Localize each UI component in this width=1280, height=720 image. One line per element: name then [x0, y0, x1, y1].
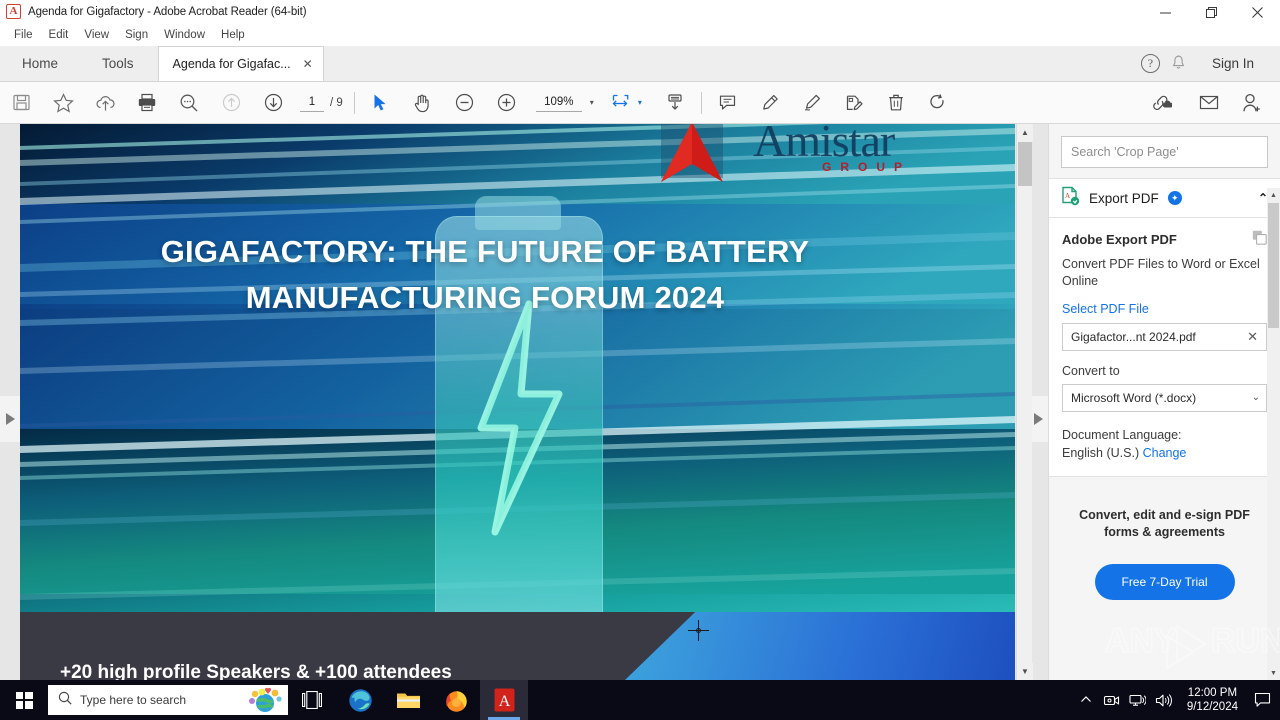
- svg-text:A: A: [498, 693, 510, 710]
- chevron-down-icon[interactable]: ▾: [584, 98, 600, 107]
- export-pdf-icon: A: [1061, 186, 1080, 211]
- sign-in-button[interactable]: Sign In: [1198, 56, 1268, 71]
- close-button[interactable]: [1234, 0, 1280, 24]
- notification-center-icon[interactable]: [1248, 680, 1276, 720]
- chevron-down-icon: ⌄: [1252, 392, 1260, 403]
- export-pdf-label: Export PDF: [1089, 191, 1159, 206]
- share-link-icon[interactable]: [1140, 82, 1182, 124]
- page-subtitle: +20 high profile Speakers & +100 attende…: [60, 662, 452, 680]
- hand-tool-icon[interactable]: [402, 82, 444, 124]
- clear-file-icon[interactable]: ✕: [1245, 329, 1260, 345]
- logo-subtitle: GROUP: [822, 160, 911, 174]
- selected-file-name: Gigafactor...nt 2024.pdf: [1071, 330, 1245, 344]
- task-view-icon[interactable]: [288, 680, 336, 720]
- pdf-page[interactable]: Amistar GROUP GIGAFACTORY: THE FUTURE OF…: [20, 124, 1015, 680]
- clock-time: 12:00 PM: [1187, 686, 1238, 700]
- page-total-label: / 9: [330, 97, 343, 109]
- previous-page-icon[interactable]: [210, 82, 252, 124]
- zoom-in-icon[interactable]: [486, 82, 528, 124]
- footer-accent-shape: [625, 612, 1015, 680]
- panel-heading: Adobe Export PDF: [1062, 232, 1177, 247]
- upload-to-cloud-icon[interactable]: [84, 82, 126, 124]
- panel-heading-row: Adobe Export PDF: [1062, 230, 1267, 248]
- print-icon[interactable]: [126, 82, 168, 124]
- panel-description: Convert PDF Files to Word or Excel Onlin…: [1062, 256, 1267, 290]
- convert-to-label: Convert to: [1062, 364, 1267, 378]
- window-titlebar: A Agenda for Gigafactory - Adobe Acrobat…: [0, 0, 1280, 24]
- find-icon[interactable]: [168, 82, 210, 124]
- search-icon: [58, 691, 72, 710]
- select-pdf-file-link[interactable]: Select PDF File: [1062, 302, 1267, 316]
- draw-free-icon[interactable]: [791, 82, 833, 124]
- previous-page-arrow[interactable]: [0, 396, 20, 442]
- scroll-up-icon[interactable]: ▲: [1017, 124, 1033, 141]
- menu-help[interactable]: Help: [213, 25, 253, 45]
- tab-tools[interactable]: Tools: [80, 45, 156, 81]
- toolbar-separator: [354, 92, 355, 114]
- search-highlight-icon: [248, 687, 282, 713]
- clock-date: 9/12/2024: [1187, 700, 1238, 714]
- taskbar-clock[interactable]: 12:00 PM 9/12/2024: [1177, 680, 1248, 720]
- free-trial-button[interactable]: Free 7-Day Trial: [1095, 564, 1235, 600]
- acrobat-reader-icon[interactable]: A: [480, 680, 528, 720]
- menu-edit[interactable]: Edit: [41, 25, 77, 45]
- highlight-text-icon[interactable]: [749, 82, 791, 124]
- menu-view[interactable]: View: [76, 25, 117, 45]
- page-footer-band: +20 high profile Speakers & +100 attende…: [20, 612, 1015, 680]
- page-display-icon[interactable]: [654, 82, 696, 124]
- show-hidden-icons[interactable]: [1073, 680, 1099, 720]
- zoom-out-icon[interactable]: [444, 82, 486, 124]
- document-language-value: English (U.S.): [1062, 446, 1139, 460]
- fill-and-sign-icon[interactable]: [833, 82, 875, 124]
- acrobat-icon: A: [6, 4, 22, 20]
- svg-text:A: A: [1065, 192, 1070, 200]
- add-person-icon[interactable]: [1230, 82, 1272, 124]
- panel-scrollbar[interactable]: ▲ ▼: [1267, 188, 1280, 680]
- window-title: Agenda for Gigafactory - Adobe Acrobat R…: [28, 6, 306, 18]
- convert-to-value: Microsoft Word (*.docx): [1071, 391, 1252, 405]
- edge-icon[interactable]: [336, 680, 384, 720]
- scroll-down-icon[interactable]: ▼: [1017, 663, 1033, 680]
- windows-taskbar: Type here to search: [0, 680, 1280, 720]
- panel-scrollbar-thumb[interactable]: [1268, 203, 1279, 328]
- tools-panel: A Export PDF ✦ ⌃ Adobe Export PDF Conver…: [1048, 124, 1280, 680]
- copy-icon[interactable]: [1252, 230, 1267, 248]
- selected-file-box[interactable]: Gigafactor...nt 2024.pdf ✕: [1062, 323, 1267, 351]
- add-comment-icon[interactable]: [707, 82, 749, 124]
- rotate-icon[interactable]: [917, 82, 959, 124]
- search-input[interactable]: [1061, 136, 1268, 168]
- camera-icon[interactable]: [1099, 680, 1125, 720]
- zoom-control: ▾: [536, 93, 600, 112]
- tab-home[interactable]: Home: [0, 45, 80, 81]
- document-language: Document Language: English (U.S.) Change: [1062, 426, 1267, 462]
- premium-badge-icon: ✦: [1168, 191, 1182, 205]
- maximize-button[interactable]: [1188, 0, 1234, 24]
- document-tab[interactable]: Agenda for Gigafac... ✕: [158, 46, 324, 81]
- toolbar-separator: [701, 92, 702, 114]
- document-language-label: Document Language:: [1062, 428, 1182, 442]
- panel-scroll-up-icon[interactable]: ▲: [1267, 188, 1280, 202]
- bell-icon[interactable]: [1168, 55, 1190, 71]
- delete-icon[interactable]: [875, 82, 917, 124]
- export-pdf-header[interactable]: A Export PDF ✦ ⌃: [1049, 178, 1280, 218]
- network-icon[interactable]: [1125, 680, 1151, 720]
- file-explorer-icon[interactable]: [384, 680, 432, 720]
- panel-scroll-down-icon[interactable]: ▼: [1267, 666, 1280, 680]
- export-pdf-body: Adobe Export PDF Convert PDF Files to Wo…: [1049, 218, 1280, 477]
- menu-sign[interactable]: Sign: [117, 25, 156, 45]
- mouse-cursor: [688, 620, 709, 641]
- tab-strip: Home Tools Agenda for Gigafac... ✕ ? Sig…: [0, 46, 1280, 82]
- window-controls: [1142, 0, 1280, 24]
- page-number-input[interactable]: [300, 93, 324, 112]
- close-icon[interactable]: ✕: [301, 57, 315, 71]
- lightning-bolt-icon: [459, 298, 579, 538]
- taskbar-search[interactable]: Type here to search: [48, 685, 288, 715]
- menu-bar: File Edit View Sign Window Help: [0, 24, 1280, 46]
- page-title: GIGAFACTORY: THE FUTURE OF BATTERY MANUF…: [20, 229, 950, 321]
- main-toolbar: / 9 ▾ ▾: [0, 82, 1280, 124]
- minimize-button[interactable]: [1142, 0, 1188, 24]
- next-page-icon[interactable]: [252, 82, 294, 124]
- document-tab-label: Agenda for Gigafac...: [173, 57, 291, 71]
- page-navigation: / 9: [300, 93, 343, 112]
- convert-to-select[interactable]: Microsoft Word (*.docx) ⌄: [1062, 384, 1267, 412]
- add-to-favorites-icon[interactable]: [42, 82, 84, 124]
- promo-text: Convert, edit and e-sign PDF forms & agr…: [1065, 507, 1264, 542]
- select-tool-icon[interactable]: [360, 82, 402, 124]
- amistar-mark-icon: [637, 124, 752, 202]
- promo-block: Convert, edit and e-sign PDF forms & agr…: [1049, 477, 1280, 600]
- document-viewport[interactable]: Amistar GROUP GIGAFACTORY: THE FUTURE OF…: [0, 124, 1048, 680]
- volume-icon[interactable]: [1151, 680, 1177, 720]
- email-icon[interactable]: [1188, 82, 1230, 124]
- help-icon[interactable]: ?: [1141, 54, 1160, 73]
- scrollbar-thumb[interactable]: [1018, 142, 1032, 186]
- chevron-down-icon[interactable]: ▾: [632, 98, 648, 107]
- system-tray: 12:00 PM 9/12/2024: [1073, 680, 1280, 720]
- change-language-link[interactable]: Change: [1143, 446, 1187, 460]
- save-icon[interactable]: [0, 82, 42, 124]
- amistar-logo: Amistar GROUP: [637, 124, 1007, 205]
- windows-start-icon[interactable]: [0, 680, 48, 720]
- menu-window[interactable]: Window: [156, 25, 213, 45]
- taskbar-search-placeholder: Type here to search: [80, 693, 186, 707]
- document-scrollbar[interactable]: ▲ ▼: [1016, 124, 1032, 680]
- zoom-level-input[interactable]: [536, 93, 582, 112]
- firefox-icon[interactable]: [432, 680, 480, 720]
- menu-file[interactable]: File: [6, 25, 41, 45]
- panel-search-wrap: [1049, 124, 1280, 178]
